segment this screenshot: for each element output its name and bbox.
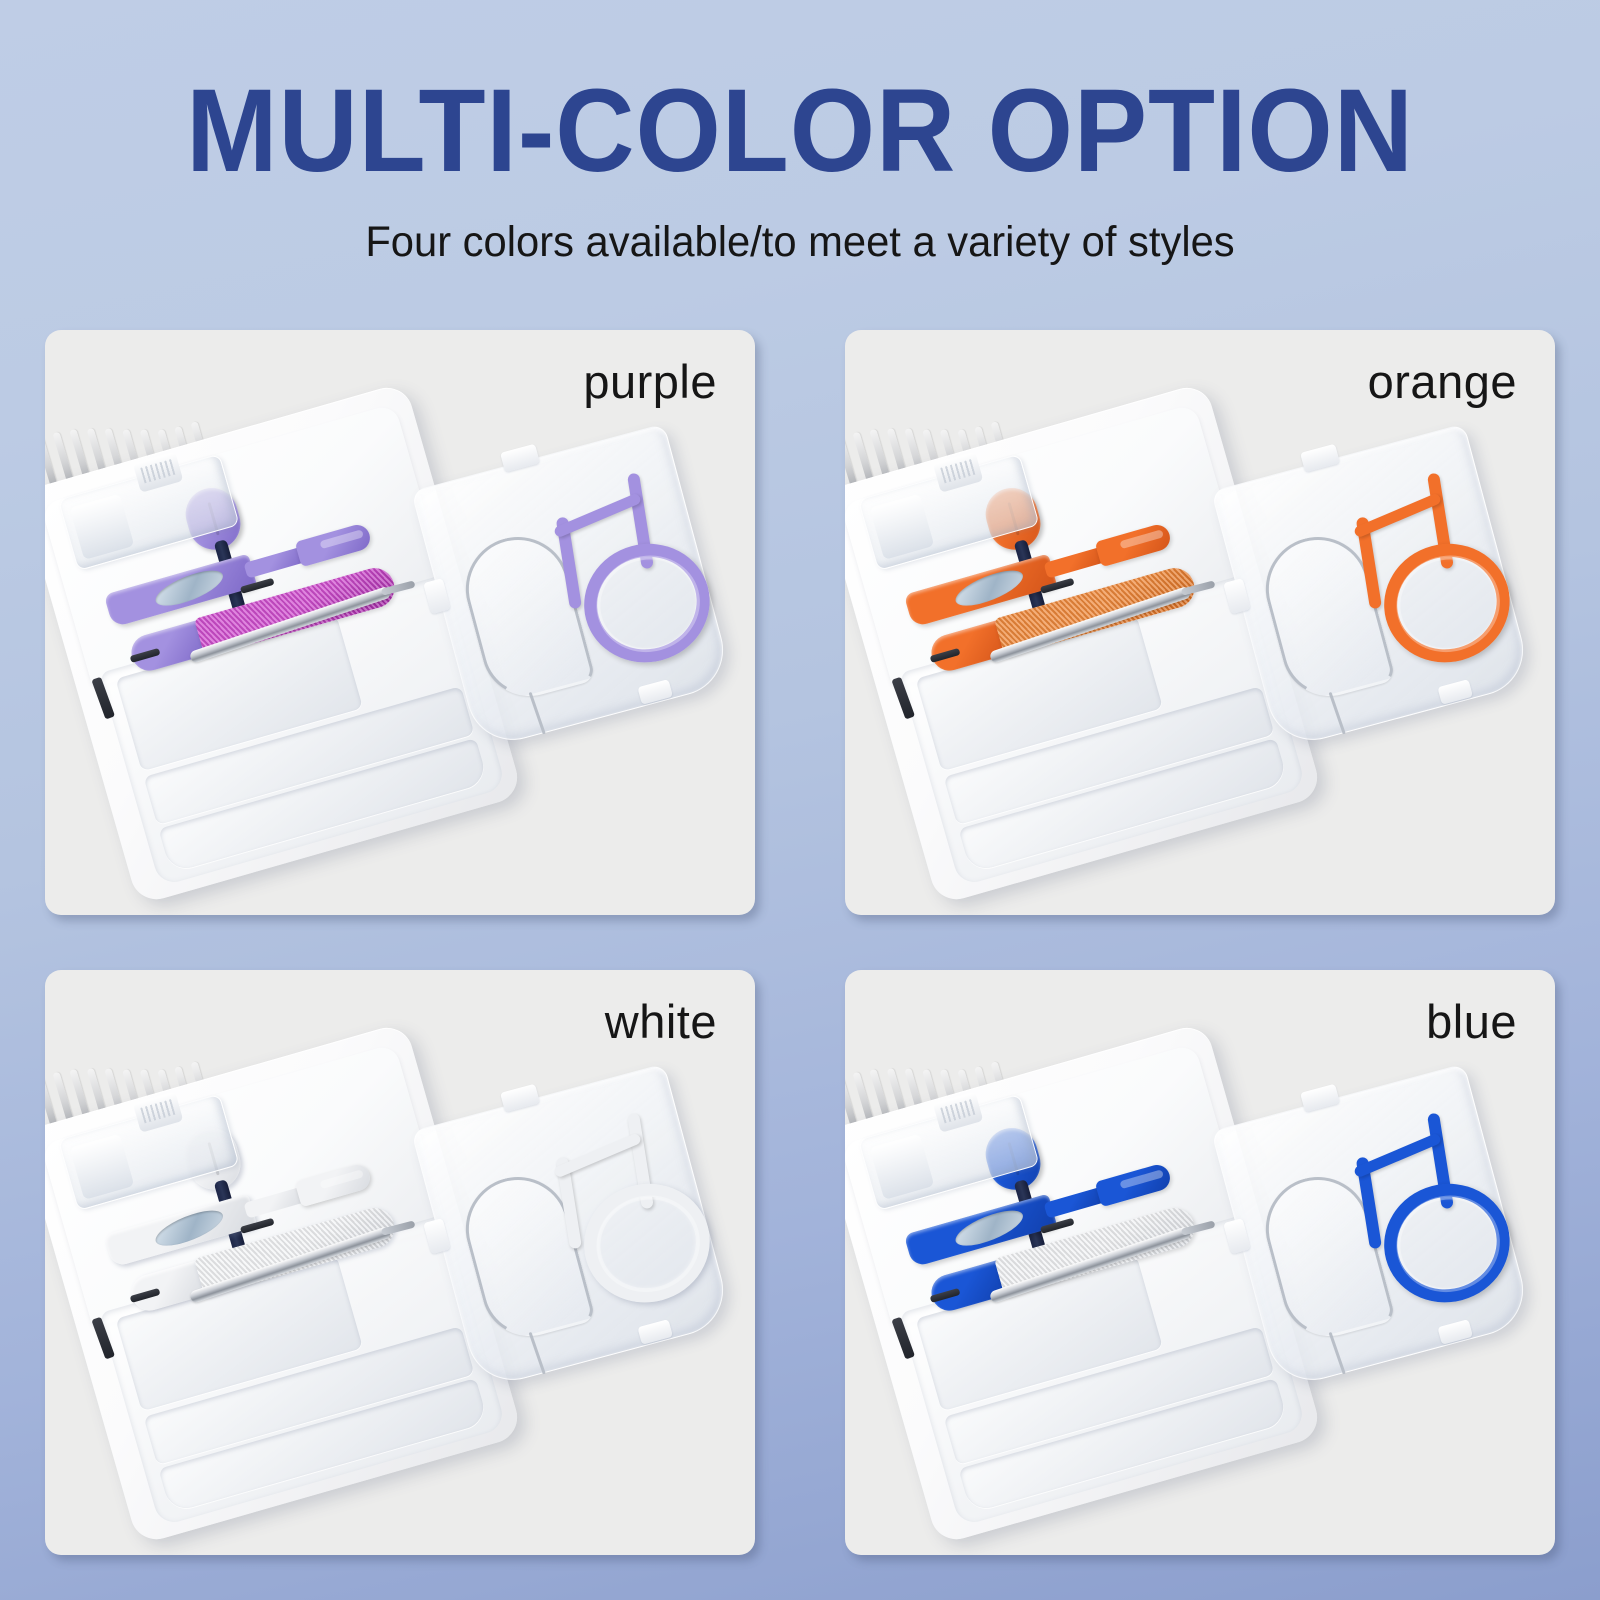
color-option-label-blue: blue [1426,994,1517,1049]
color-option-card-orange[interactable]: orange [845,330,1555,915]
color-options-grid: purple [45,330,1555,1555]
ring-arm-top [1353,492,1442,538]
page-header: MULTI-COLOR OPTION Four colors available… [0,0,1600,267]
color-option-label-orange: orange [1368,354,1517,409]
color-option-label-white: white [605,994,717,1049]
product-photo [845,330,1555,915]
color-option-card-white[interactable]: white [45,970,755,1555]
page-subtitle: Four colors available/to meet a variety … [24,218,1576,267]
color-option-label-purple: purple [583,354,717,409]
page-title: MULTI-COLOR OPTION [56,72,1544,190]
color-option-card-blue[interactable]: blue [845,970,1555,1555]
ring-arm-top [553,492,642,538]
product-photo [45,330,755,915]
color-option-card-purple[interactable]: purple [45,330,755,915]
product-photo [845,970,1555,1555]
product-photo [45,970,755,1555]
ring-arm-top [553,1132,642,1178]
ring-arm-top [1353,1132,1442,1178]
